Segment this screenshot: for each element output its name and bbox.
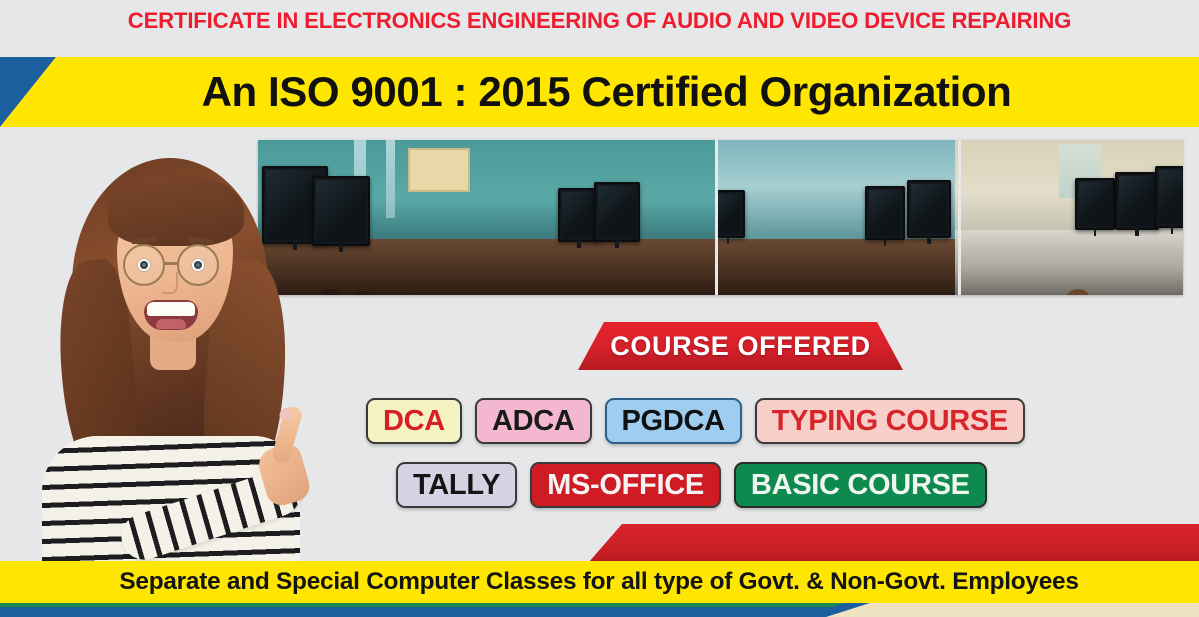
course-list-row-2: TALLY MS-OFFICE BASIC COURSE [396,462,987,508]
course-offered-ribbon: COURSE OFFERED [578,322,903,370]
photo-panel-classroom-left [258,140,715,295]
course-badge-pgdca[interactable]: PGDCA [605,398,742,444]
course-badge-label: MS-OFFICE [547,469,704,502]
course-list-row-1: DCA ADCA PGDCA TYPING COURSE [366,398,1025,444]
photo-panel-classroom-right [955,140,1183,295]
course-offered-label: COURSE OFFERED [578,322,903,370]
strip-divider-2 [958,140,961,295]
course-badge-typing-course[interactable]: TYPING COURSE [755,398,1025,444]
course-badge-ms-office[interactable]: MS-OFFICE [530,462,721,508]
iso-certification-bar: An ISO 9001 : 2015 Certified Organizatio… [0,57,1199,127]
course-badge-dca[interactable]: DCA [366,398,462,444]
course-badge-label: DCA [383,405,445,438]
promotional-banner: CERTIFICATE IN ELECTRONICS ENGINEERING O… [0,0,1199,617]
course-badge-basic-course[interactable]: BASIC COURSE [734,462,987,508]
footer-strip [0,603,1199,617]
strip-divider-1 [715,140,718,295]
course-badge-tally[interactable]: TALLY [396,462,517,508]
glasses-icon [123,244,165,286]
course-badge-label: PGDCA [622,405,725,438]
footer-green-band [0,603,844,607]
course-badge-label: BASIC COURSE [751,469,970,502]
presenter-photo [10,140,322,580]
tagline-bar: Separate and Special Computer Classes fo… [0,561,1199,603]
photo-strip [258,140,1183,295]
iso-certification-text: An ISO 9001 : 2015 Certified Organizatio… [0,57,1199,127]
photo-panel-classroom-middle [715,140,955,295]
course-badge-label: TALLY [413,469,500,502]
course-badge-label: TYPING COURSE [772,405,1008,438]
course-badge-adca[interactable]: ADCA [475,398,592,444]
page-title: CERTIFICATE IN ELECTRONICS ENGINEERING O… [9,8,1190,34]
course-badge-label: ADCA [492,405,575,438]
tagline-text: Separate and Special Computer Classes fo… [120,568,1079,596]
